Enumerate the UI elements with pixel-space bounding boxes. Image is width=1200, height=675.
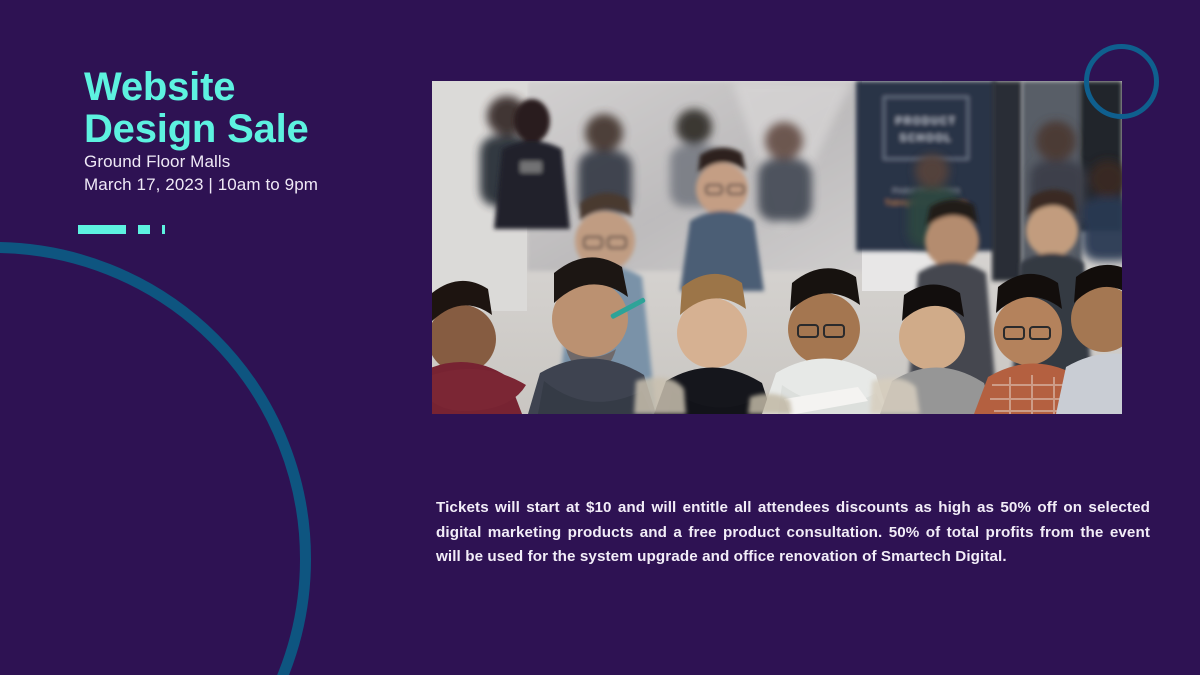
accent-dash-3 — [162, 225, 165, 234]
page-title: Website Design Sale — [84, 66, 309, 150]
accent-dash-2 — [138, 225, 150, 234]
event-photo: PRODUCT SCHOOL Product Management Traini… — [432, 81, 1122, 414]
body-paragraph: Tickets will start at $10 and will entit… — [436, 496, 1150, 570]
event-venue: Ground Floor Malls — [84, 150, 318, 173]
large-circle-outline-decoration — [0, 242, 311, 675]
accent-dash-group — [78, 225, 165, 234]
accent-dash-1 — [78, 225, 126, 234]
event-details-block: Ground Floor Malls March 17, 2023 | 10am… — [84, 150, 318, 197]
presentation-slide: Website Design Sale Ground Floor Malls M… — [0, 0, 1200, 675]
event-schedule: March 17, 2023 | 10am to 9pm — [84, 173, 318, 196]
event-photo-illustration: PRODUCT SCHOOL Product Management Traini… — [432, 81, 1122, 414]
headline-block: Website Design Sale — [84, 66, 309, 150]
